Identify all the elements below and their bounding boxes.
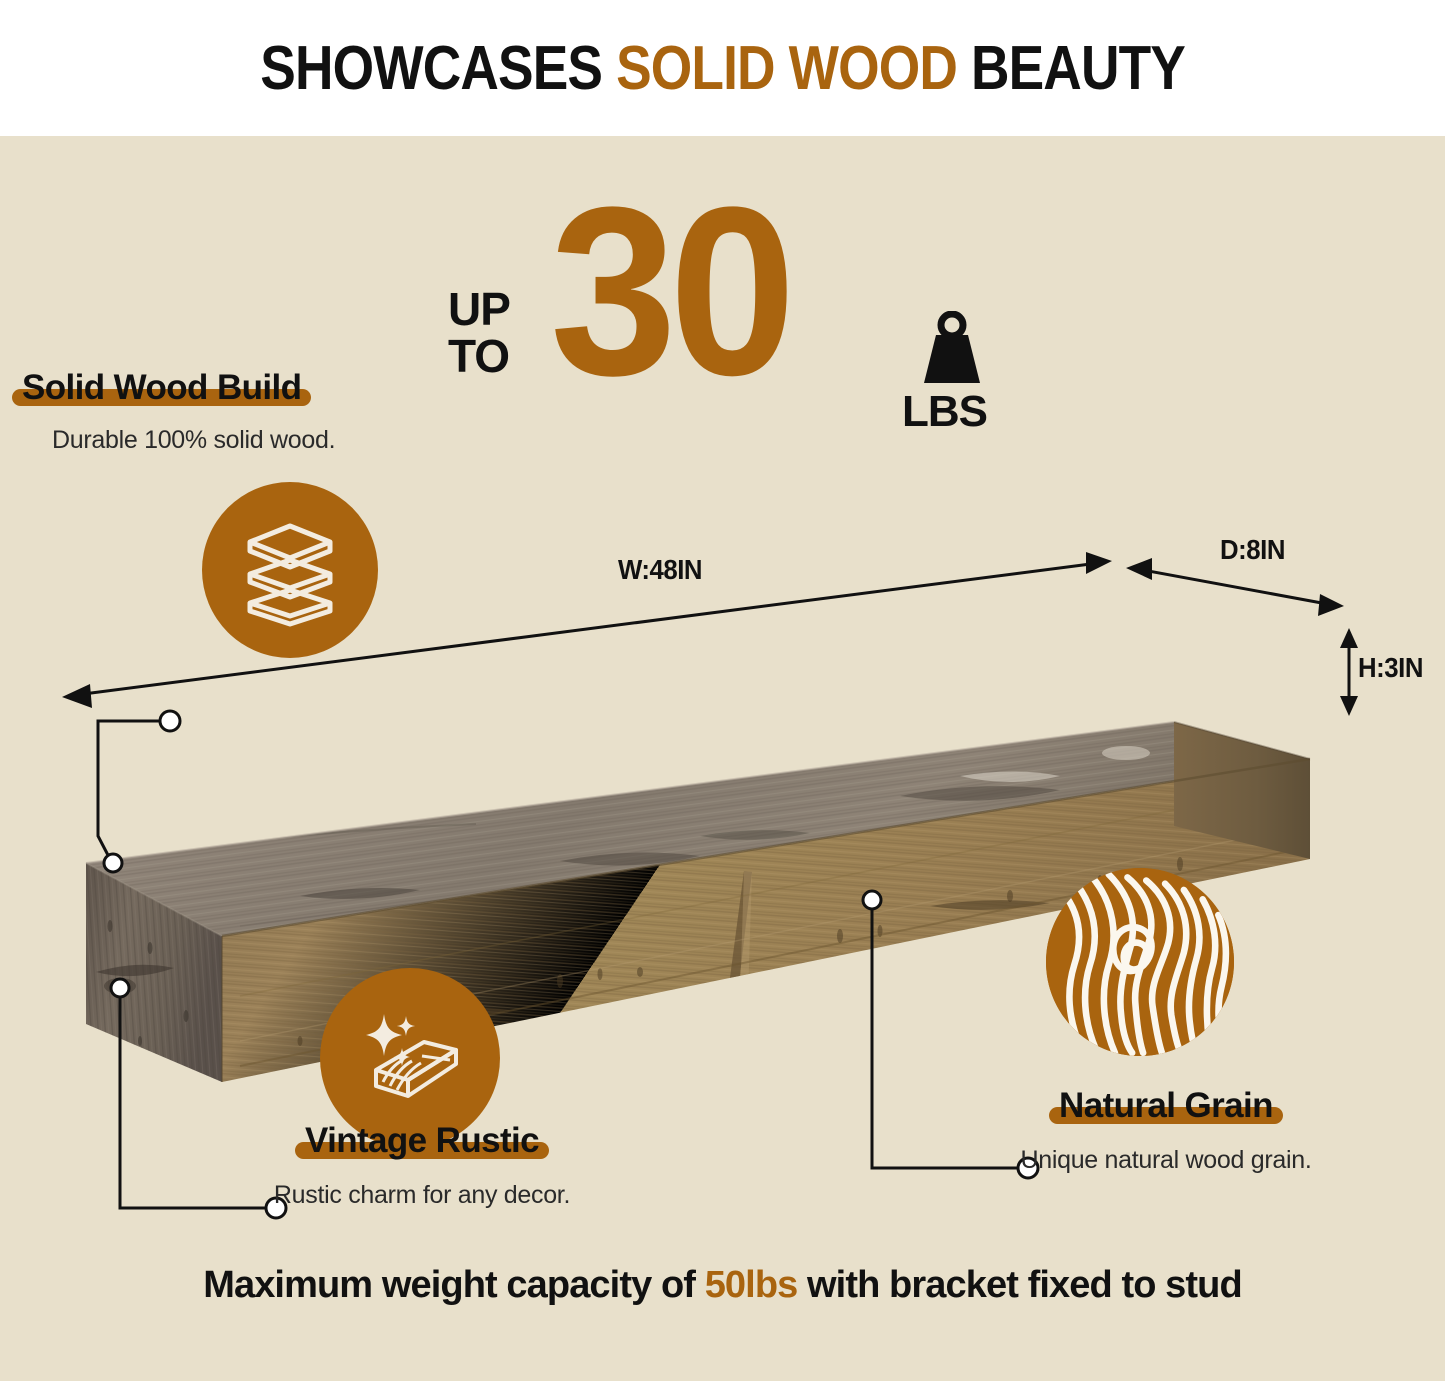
capacity-number: 30: [550, 171, 788, 411]
height-arrow: [1340, 628, 1358, 716]
weight-icon: [918, 311, 986, 389]
feature-solid-wood-build: Solid Wood Build Durable 100% solid wood…: [22, 368, 335, 455]
feature-title-wrap: Solid Wood Build: [22, 368, 301, 408]
feature-title: Solid Wood Build: [22, 368, 301, 407]
dimension-height-label: H:3IN: [1358, 652, 1423, 684]
feature-vintage-rustic: Vintage Rustic Rustic charm for any deco…: [262, 1121, 582, 1210]
feature-title-wrap: Vintage Rustic: [305, 1121, 539, 1161]
footer-note: Maximum weight capacity of 50lbs with br…: [0, 1264, 1445, 1307]
dimension-width-label: W:48IN: [618, 554, 702, 586]
leader-vintage-rustic: [111, 979, 286, 1218]
infographic-stage: UPTO 30 LBS Solid Wood Build Durable 100…: [0, 136, 1445, 1381]
capacity-unit-label: LBS: [902, 387, 987, 437]
feature-title-wrap: Natural Grain: [1059, 1086, 1273, 1126]
feature-natural-grain: Natural Grain Unique natural wood grain.: [1006, 1086, 1326, 1175]
capacity-upto-label: UPTO: [448, 286, 510, 380]
capacity-to-label: TO: [448, 330, 509, 382]
feature-subtitle: Rustic charm for any decor.: [262, 1181, 582, 1210]
depth-arrow: [1126, 558, 1344, 616]
feature-title: Vintage Rustic: [305, 1121, 539, 1160]
page-title-part2: BEAUTY: [957, 34, 1185, 103]
page-title-part1: SHOWCASES: [260, 34, 616, 103]
sparkle-wood-plank-glyph: [350, 998, 470, 1118]
wood-grain-swirl-icon: [1046, 868, 1234, 1056]
dimension-depth-label: D:8IN: [1220, 534, 1285, 566]
page-title: SHOWCASES SOLID WOOD BEAUTY: [260, 33, 1185, 104]
stacked-wood-layers-icon: [202, 482, 378, 658]
capacity-up-label: UP: [448, 283, 510, 335]
footer-part1: Maximum weight capacity of: [203, 1264, 704, 1306]
footer-part2: with bracket fixed to stud: [797, 1264, 1241, 1306]
feature-subtitle: Unique natural wood grain.: [1006, 1146, 1326, 1175]
wood-grain-swirl-glyph: [1046, 868, 1234, 1056]
feature-title: Natural Grain: [1059, 1086, 1273, 1125]
feature-subtitle: Durable 100% solid wood.: [52, 426, 335, 455]
page-title-highlight: SOLID WOOD: [616, 34, 957, 103]
header-band: SHOWCASES SOLID WOOD BEAUTY: [0, 0, 1445, 136]
stacked-wood-layers-glyph: [230, 510, 350, 630]
leader-solid-wood: [98, 711, 180, 872]
footer-highlight: 50lbs: [705, 1264, 798, 1306]
weight-capacity-callout: UPTO 30 LBS: [440, 181, 1020, 401]
